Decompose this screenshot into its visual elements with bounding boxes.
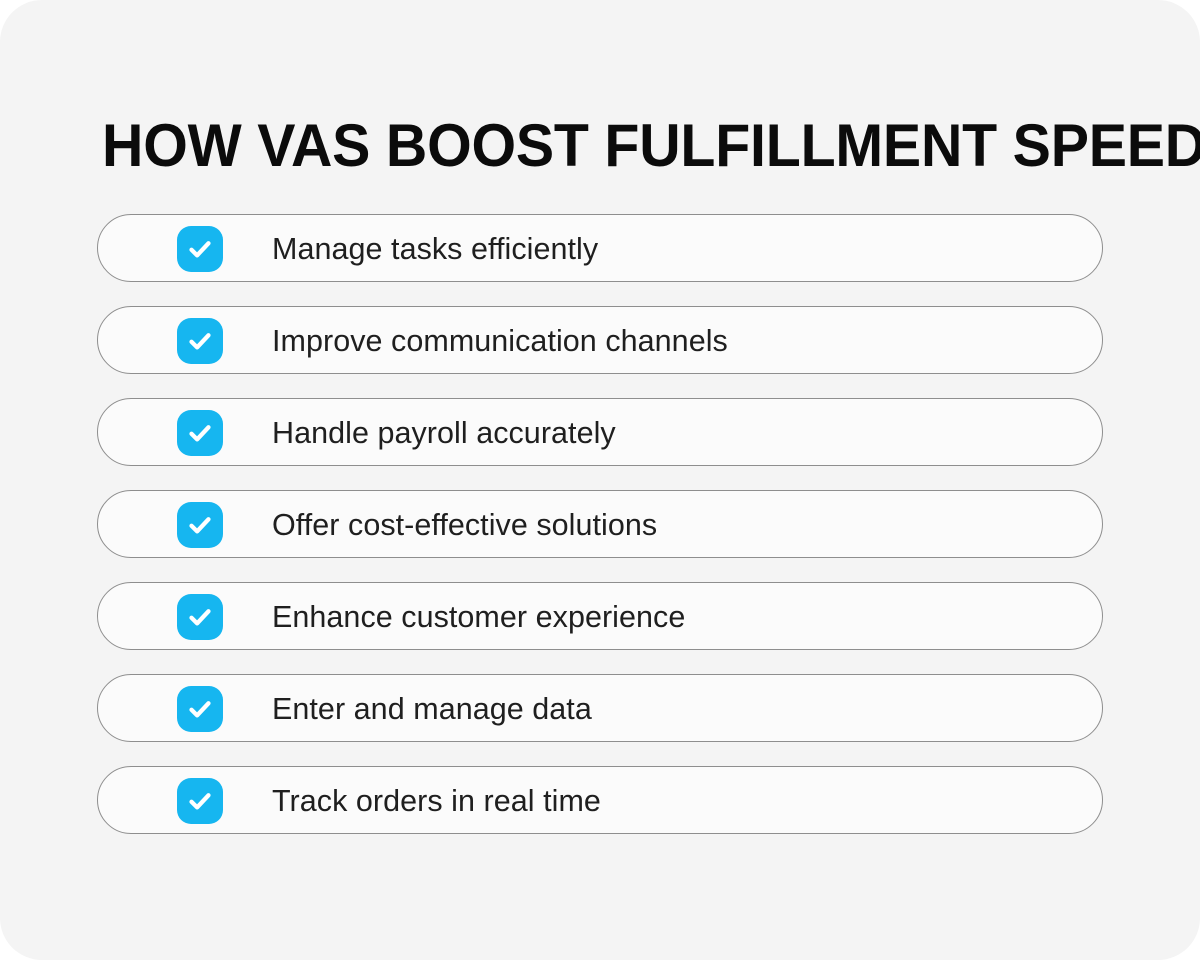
checkbox-checked[interactable] <box>177 594 223 640</box>
list-item-label: Manage tasks efficiently <box>272 215 598 283</box>
list-item[interactable]: Enter and manage data <box>97 674 1103 742</box>
infographic-card: HOW VAS BOOST FULFILLMENT SPEED Manage t… <box>0 0 1200 960</box>
check-icon <box>185 510 215 540</box>
check-icon <box>185 234 215 264</box>
list-item[interactable]: Improve communication channels <box>97 306 1103 374</box>
list-item-label: Enhance customer experience <box>272 583 685 651</box>
benefits-checklist: Manage tasks efficiently Improve communi… <box>97 214 1103 834</box>
check-icon <box>185 694 215 724</box>
checkbox-checked[interactable] <box>177 226 223 272</box>
list-item[interactable]: Handle payroll accurately <box>97 398 1103 466</box>
checkbox-checked[interactable] <box>177 502 223 548</box>
list-item-label: Handle payroll accurately <box>272 399 616 467</box>
checkbox-checked[interactable] <box>177 778 223 824</box>
list-item-label: Track orders in real time <box>272 767 601 835</box>
check-icon <box>185 418 215 448</box>
list-item[interactable]: Manage tasks efficiently <box>97 214 1103 282</box>
card-content: HOW VAS BOOST FULFILLMENT SPEED Manage t… <box>97 0 1103 960</box>
check-icon <box>185 786 215 816</box>
check-icon <box>185 602 215 632</box>
list-item-label: Enter and manage data <box>272 675 592 743</box>
checkbox-checked[interactable] <box>177 686 223 732</box>
check-icon <box>185 326 215 356</box>
list-item[interactable]: Offer cost-effective solutions <box>97 490 1103 558</box>
list-item-label: Improve communication channels <box>272 307 728 375</box>
list-item[interactable]: Enhance customer experience <box>97 582 1103 650</box>
list-item-label: Offer cost-effective solutions <box>272 491 657 559</box>
checkbox-checked[interactable] <box>177 318 223 364</box>
page-title: HOW VAS BOOST FULFILLMENT SPEED <box>102 112 1200 180</box>
checkbox-checked[interactable] <box>177 410 223 456</box>
list-item[interactable]: Track orders in real time <box>97 766 1103 834</box>
